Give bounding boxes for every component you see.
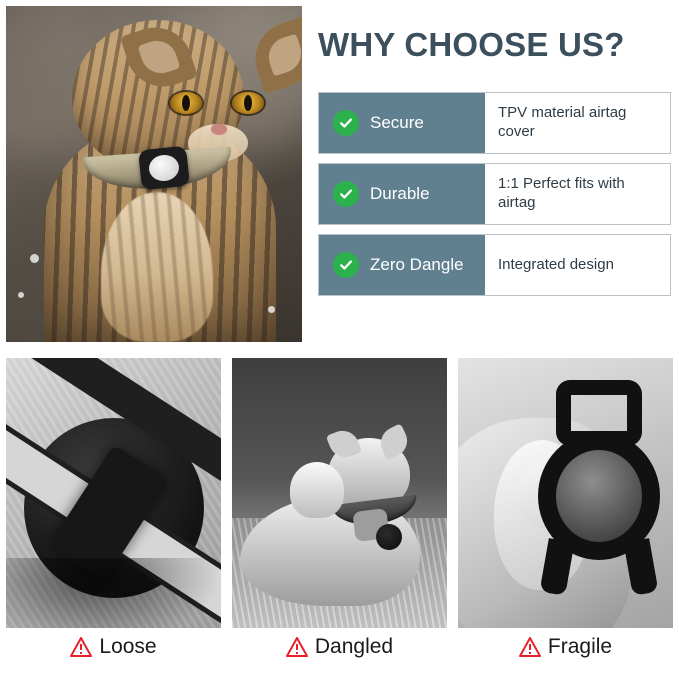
warning-triangle-icon	[70, 637, 92, 657]
check-circle-icon	[333, 110, 359, 136]
cat-pupil-left	[182, 95, 190, 111]
caption-row: Dangled	[232, 636, 447, 657]
feature-label: Secure	[370, 114, 424, 133]
snow-fleck	[268, 306, 275, 313]
holder-leg-left	[540, 538, 575, 596]
cat-ear-left	[120, 18, 198, 96]
feature-label-cell: Secure	[319, 93, 485, 153]
comparison-image-fragile	[458, 358, 673, 628]
comparison-card: Dangled	[232, 358, 447, 657]
feature-label: Zero Dangle	[370, 256, 464, 275]
cat-pupil-right	[244, 95, 252, 111]
airtag-disc	[556, 450, 642, 542]
feature-description: TPV material airtag cover	[485, 93, 670, 153]
caption-text: Loose	[99, 636, 156, 657]
comparison-image-loose	[6, 358, 221, 628]
warning-triangle-icon	[519, 637, 541, 657]
caption-text: Fragile	[548, 636, 612, 657]
holder-loop	[556, 380, 642, 446]
caption-row: Fragile	[458, 636, 673, 657]
feature-row: Durable 1:1 Perfect fits with airtag	[318, 163, 671, 225]
top-section: WHY CHOOSE US? Secure TPV material airta…	[0, 0, 679, 345]
feature-table: Secure TPV material airtag cover Durable…	[318, 92, 671, 305]
snow-fleck	[18, 292, 24, 298]
cat-eye-left	[170, 92, 202, 114]
caption-text: Dangled	[315, 636, 393, 657]
airtag-holder	[138, 146, 190, 191]
dangling-tag	[376, 524, 402, 550]
feature-description: Integrated design	[485, 235, 670, 295]
cat-nose	[211, 124, 227, 135]
feature-description: 1:1 Perfect fits with airtag	[485, 164, 670, 224]
airtag-holder	[532, 380, 664, 594]
feature-label: Durable	[370, 185, 430, 204]
feature-label-cell: Durable	[319, 164, 485, 224]
cat-paw	[290, 462, 344, 518]
comparison-card: Loose	[6, 358, 221, 657]
feature-row: Zero Dangle Integrated design	[318, 234, 671, 296]
cat-eye-right	[232, 92, 264, 114]
page-title: WHY CHOOSE US?	[318, 26, 673, 64]
warning-triangle-icon	[286, 637, 308, 657]
snow-fleck	[30, 254, 39, 263]
photo-shadow	[6, 558, 221, 628]
cat-ear-inner-right	[264, 34, 302, 77]
check-circle-icon	[333, 181, 359, 207]
cat-ear-inner-left	[138, 36, 181, 79]
airtag-disc	[148, 154, 181, 183]
feature-row: Secure TPV material airtag cover	[318, 92, 671, 154]
comparison-image-dangled	[232, 358, 447, 628]
comparison-section: Loose Dangled	[0, 358, 679, 676]
holder-leg-right	[624, 538, 659, 596]
comparison-card: Fragile	[458, 358, 673, 657]
hero-image	[6, 6, 302, 342]
feature-label-cell: Zero Dangle	[319, 235, 485, 295]
check-circle-icon	[333, 252, 359, 278]
caption-row: Loose	[6, 636, 221, 657]
